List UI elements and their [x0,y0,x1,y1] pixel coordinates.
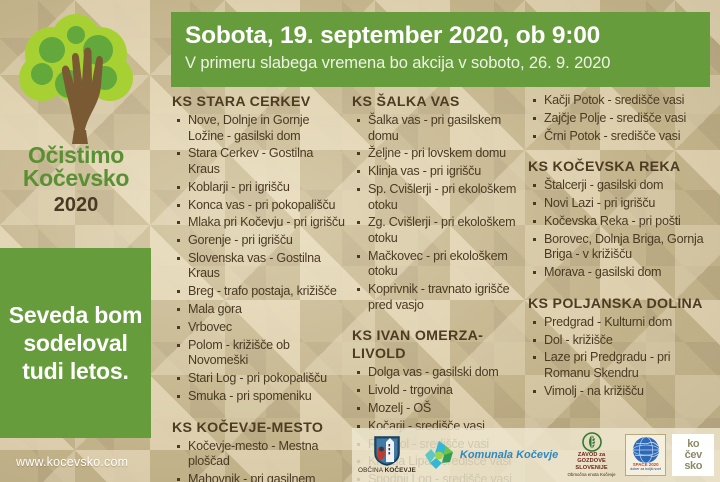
location-group-title: KS IVAN OMERZA-LIVOLD [352,327,524,363]
left-sidebar: Očistimo Kočevsko 2020 Seveda bom sodelo… [0,0,166,482]
location-list: Kočevje-mesto - Mestna ploščadMahovnik -… [174,439,348,482]
pledge-text: Seveda bom sodeloval tudi letos. [0,301,151,385]
location-item: Zajčje Polje - središče vasi [530,111,716,129]
location-group: KS POLJANSKA DOLINAPredgrad - Kulturni d… [528,295,716,402]
kocevsko-line-3: sko [684,461,702,472]
location-item: Vrbovec [174,320,348,338]
location-item: Klinja vas - pri igrišču [354,164,524,182]
logo-line-1: Očistimo [0,144,152,167]
location-group-title: KS POLJANSKA DOLINA [528,295,716,313]
location-item: Breg - trafo postaja, križišče [174,284,348,302]
location-group: KS STARA CERKEVNove, Dolnje in Gornje Lo… [172,93,348,407]
location-item: Koprivnik - travnato igrišče pred vasjo [354,282,524,315]
location-item: Črni Potok - središče vasi [530,129,716,147]
sponsor-komunala-caption: Komunala Kočevje [460,449,558,461]
event-date-title: Sobota, 19. september 2020, ob 9:00 [185,21,710,51]
location-item: Kočevje-mesto - Mestna ploščad [174,439,348,472]
sponsor-zgs-caption: ZAVOD za GOZDOVE SLOVENIJE Območna enota… [564,452,619,478]
event-rain-date: V primeru slabega vremena bo akcija v so… [185,51,710,75]
location-group-title: KS ŠALKA VAS [352,93,524,111]
sponsor-obcina-kocevje: OBČINA KOČEVJE [358,436,416,474]
locations-column-3: Kačji Potok - središče vasiZajčje Polje … [528,93,716,402]
location-item: Novi Lazi - pri igrišču [530,196,716,214]
location-item: Vimolj - na križišču [530,384,716,402]
sponsor-obcina-caption: OBČINA KOČEVJE [358,467,416,474]
location-item: Dol - križišče [530,333,716,351]
location-list: Štalcerji - gasilski domNovi Lazi - pri … [530,178,716,283]
location-item: Polom - križišče ob Novomeški [174,338,348,371]
location-item: Koblarji - pri igrišču [174,180,348,198]
location-item: Slovenska vas - Gostilna Kraus [174,251,348,284]
location-list: Šalka vas - pri gasilskem domuŽeljne - p… [354,113,524,315]
website-url[interactable]: www.kocevsko.com [16,455,128,469]
location-item: Mačkovec - pri ekološkem otoku [354,249,524,282]
location-item: Šalka vas - pri gasilskem domu [354,113,524,146]
location-item: Smuka - pri spomeniku [174,389,348,407]
location-item: Mahovnik - pri gasilnem domu [174,472,348,482]
location-item: Zg. Cvišlerji - pri ekološkem otoku [354,215,524,248]
location-group-title: KS KOČEVJE-MESTO [172,419,348,437]
location-item: Predgrad - Kulturni dom [530,315,716,333]
location-list: Kačji Potok - središče vasiZajčje Polje … [530,93,716,146]
kocevsko-line-2: čev [685,450,702,461]
tree-with-hand-icon [12,12,140,144]
poster-canvas: Očistimo Kočevsko 2020 Seveda bom sodelo… [0,0,720,482]
logo-line-2: Kočevsko [0,167,152,190]
location-item: Željne - pri lovskem domu [354,146,524,164]
location-item: Livold - trgovina [354,383,524,401]
sponsor-kocevsko-brand: ko čev sko [672,434,714,476]
logo-year: 2020 [0,192,152,218]
kocevsko-line-1: ko [687,439,699,450]
location-item: Mala gora [174,302,348,320]
location-list: Predgrad - Kulturni domDol - križiščeLaz… [530,315,716,402]
coat-of-arms-icon [374,436,400,466]
location-item: Borovec, Dolnja Briga, Gornja Briga - v … [530,232,716,265]
locations-column-1: KS STARA CERKEVNove, Dolnje in Gornje Lo… [172,93,348,482]
locations-column-2: KS ŠALKA VASŠalka vas - pri gasilskem do… [352,93,524,482]
location-item: Mlaka pri Kočevju - pri igrišču [174,215,348,233]
location-item: Stara Cerkev - Gostilna Kraus [174,146,348,179]
location-group: Kačji Potok - središče vasiZajčje Polje … [528,93,716,146]
location-item: Morava - gasilski dom [530,265,716,283]
location-item: Nove, Dolnje in Gornje Ložine - gasilski… [174,113,348,146]
location-item: Mozelj - OŠ [354,401,524,419]
location-item: Konca vas - pri pokopališču [174,198,348,216]
location-item: Gorenje - pri igrišču [174,233,348,251]
location-group-title: KS STARA CERKEV [172,93,348,111]
event-header-band: Sobota, 19. september 2020, ob 9:00 V pr… [171,12,710,87]
globe-icon [627,435,665,465]
location-item: Štalcerji - gasilski dom [530,178,716,196]
location-group: KS ŠALKA VASŠalka vas - pri gasilskem do… [352,93,524,315]
location-item: Laze pri Predgradu - pri Romanu Skendru [530,350,716,383]
location-item: Stari Log - pri pokopališču [174,371,348,389]
sponsor-globe-badge: SPACE 2020 dober za boljši svet [625,434,667,476]
forest-service-icon [582,432,602,452]
location-list: Nove, Dolnje in Gornje Ložine - gasilski… [174,113,348,407]
sponsor-logo-bar: OBČINA KOČEVJE Komunala Kočevje ZAVOD z [352,428,720,482]
location-item: Sp. Cvišlerji - pri ekološkem otoku [354,182,524,215]
sponsor-zavod-za-gozdove: ZAVOD za GOZDOVE SLOVENIJE Območna enota… [564,432,619,478]
location-item: Dolga vas - gasilski dom [354,365,524,383]
location-group: KS KOČEVSKA REKAŠtalcerji - gasilski dom… [528,158,716,283]
location-item: Kačji Potok - središče vasi [530,93,716,111]
globe-badge-subtag: dober za boljši svet [630,467,661,471]
pledge-panel: Seveda bom sodeloval tudi letos. [0,248,151,438]
komunala-flower-icon [422,438,456,472]
location-item: Kočevska Reka - pri pošti [530,214,716,232]
brand-logo: Očistimo Kočevsko 2020 [0,12,152,218]
location-group: KS KOČEVJE-MESTOKočevje-mesto - Mestna p… [172,419,348,482]
sponsor-komunala-kocevje: Komunala Kočevje [422,438,558,472]
location-group-title: KS KOČEVSKA REKA [528,158,716,176]
